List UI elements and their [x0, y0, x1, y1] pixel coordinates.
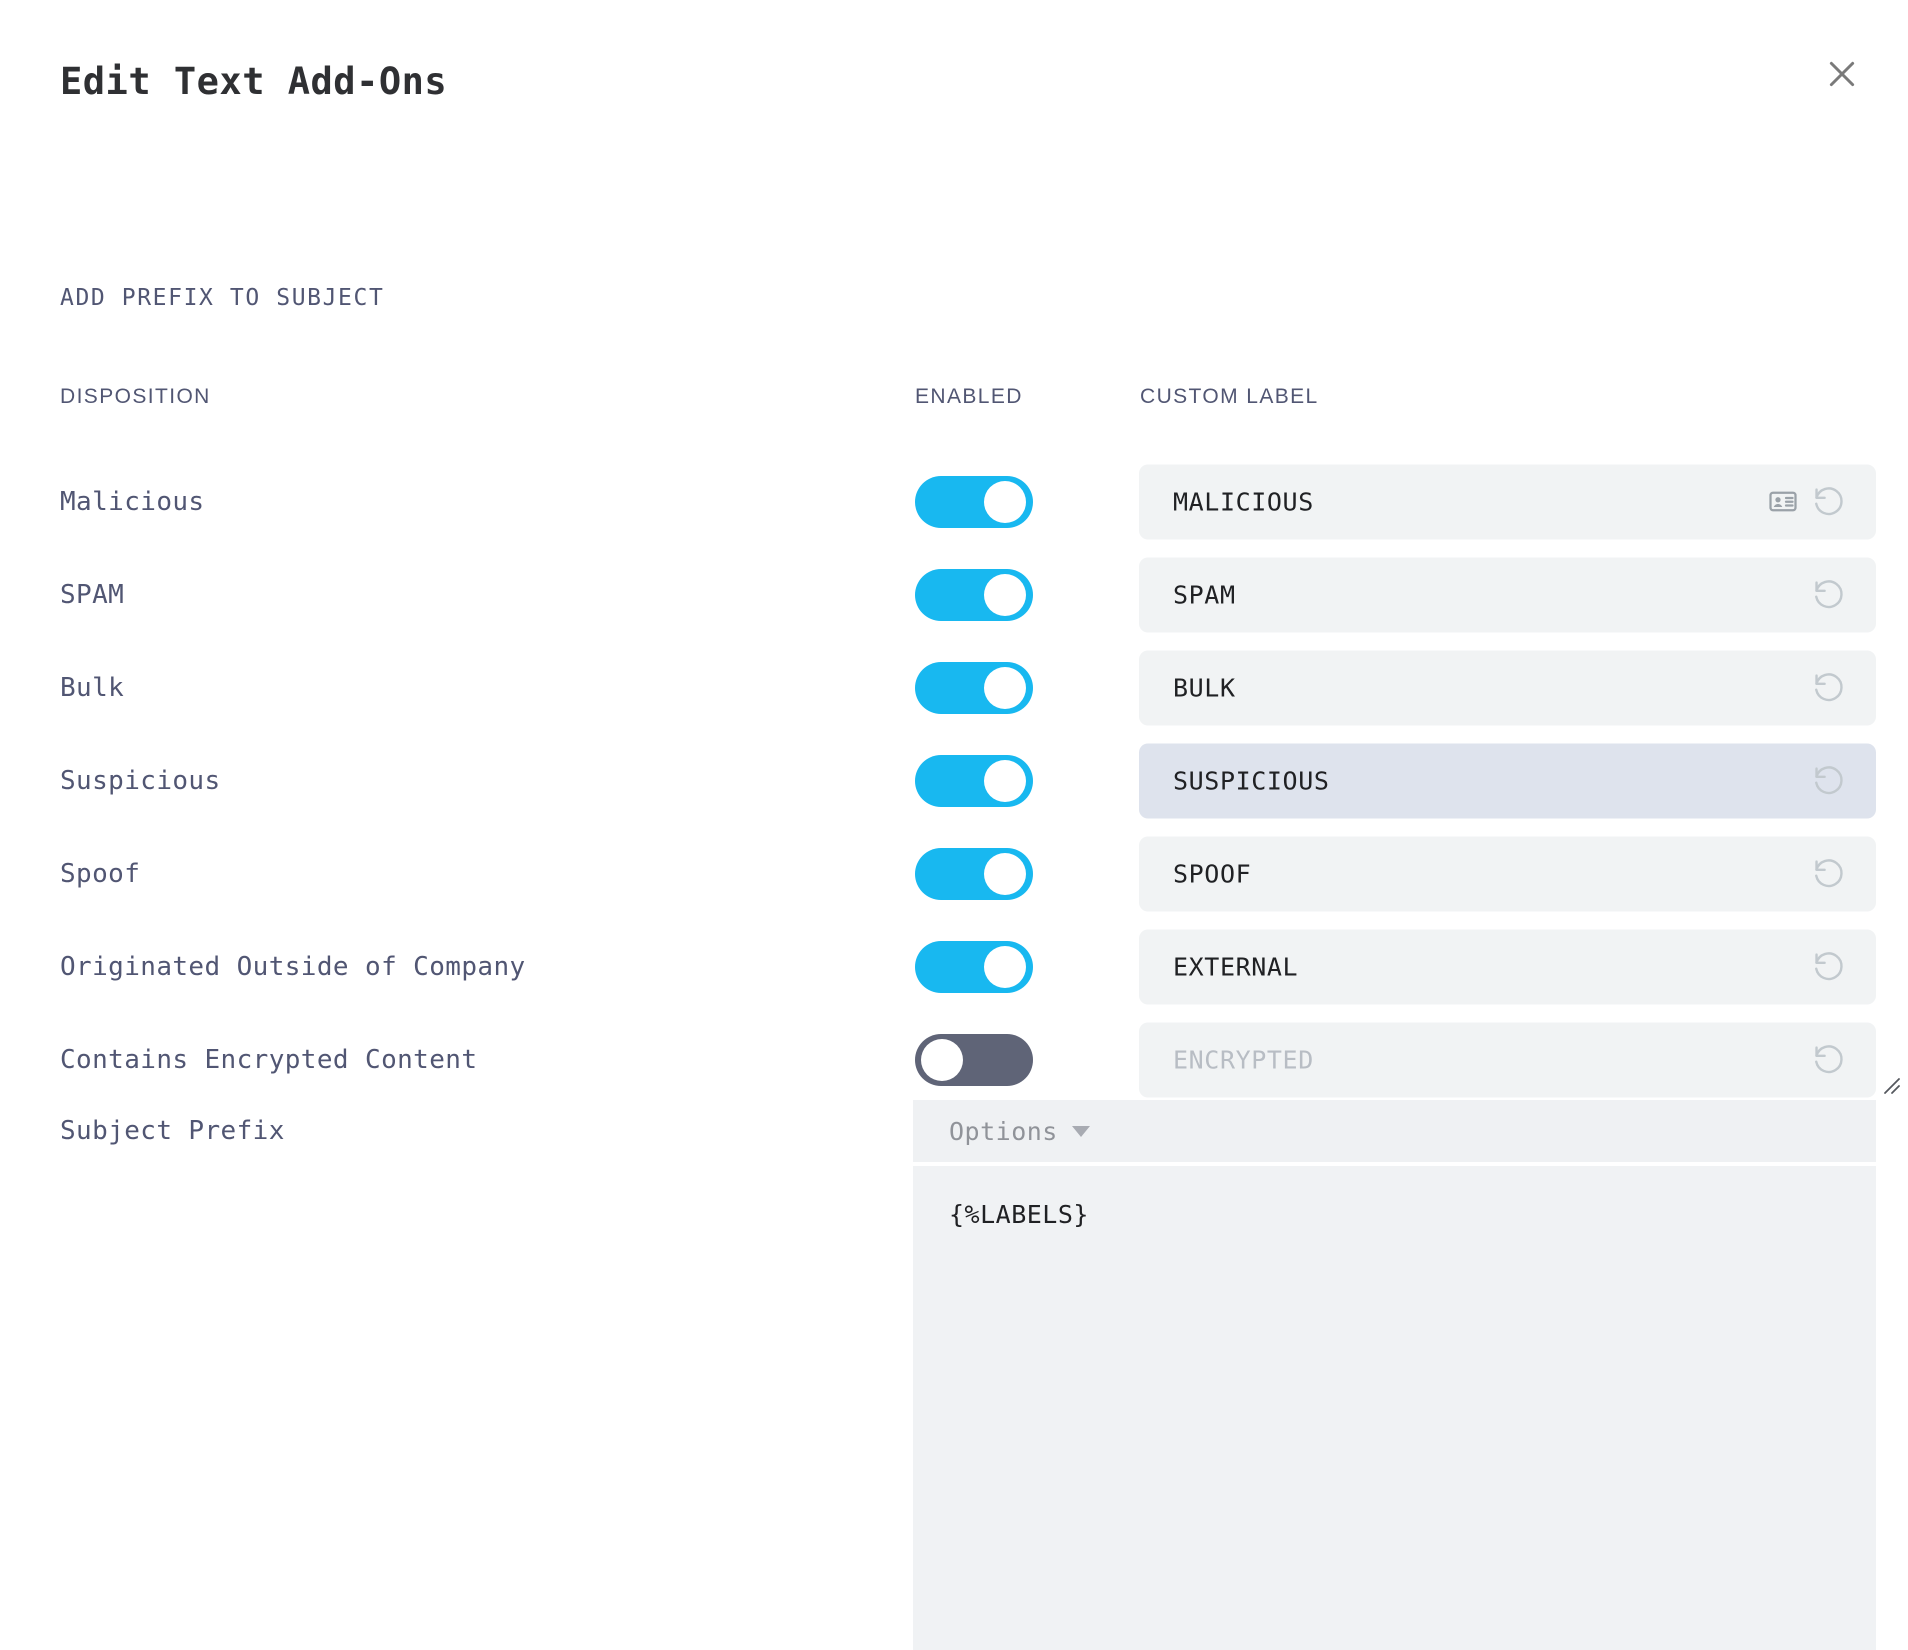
reset-icon[interactable] — [1812, 578, 1846, 612]
custom-label-field[interactable]: SPOOF — [1139, 836, 1876, 911]
reset-icon — [1812, 1043, 1846, 1077]
table-row: Originated Outside of CompanyEXTERNAL — [0, 920, 1908, 1013]
toggle-knob — [984, 481, 1026, 523]
table-row: Contains Encrypted ContentENCRYPTED — [0, 1013, 1908, 1106]
toggle-knob — [984, 667, 1026, 709]
contact-card-icon[interactable] — [1768, 487, 1798, 517]
table-row: BulkBULK — [0, 641, 1908, 734]
toggle-knob — [921, 1039, 963, 1081]
reset-icon[interactable] — [1812, 857, 1846, 891]
reset-icon[interactable] — [1812, 950, 1846, 984]
options-dropdown-label: Options — [913, 1117, 1058, 1146]
custom-label-value: SUSPICIOUS — [1139, 766, 1812, 795]
enabled-toggle[interactable] — [915, 662, 1033, 714]
disposition-label: Contains Encrypted Content — [60, 1045, 477, 1075]
chevron-down-icon — [1072, 1126, 1090, 1137]
enabled-toggle[interactable] — [915, 1034, 1033, 1086]
column-header-custom-label: CUSTOM LABEL — [1140, 385, 1319, 409]
field-icon-group — [1812, 1043, 1876, 1077]
disposition-label: Suspicious — [60, 766, 221, 796]
subject-prefix-textarea[interactable]: {%LABELS} — [913, 1166, 1876, 1650]
table-header-row: DISPOSITION ENABLED CUSTOM LABEL — [0, 385, 1908, 455]
reset-icon[interactable] — [1812, 764, 1846, 798]
table-row: SPAMSPAM — [0, 548, 1908, 641]
custom-label-field[interactable]: SUSPICIOUS — [1139, 743, 1876, 818]
field-icon-group — [1812, 857, 1876, 891]
section-heading: ADD PREFIX TO SUBJECT — [60, 285, 384, 311]
custom-label-value: SPAM — [1139, 580, 1812, 609]
toggle-knob — [984, 760, 1026, 802]
toggle-knob — [984, 946, 1026, 988]
field-icon-group — [1812, 671, 1876, 705]
close-button[interactable] — [1818, 50, 1866, 98]
resize-handle-icon[interactable] — [1876, 1070, 1902, 1096]
page-title: Edit Text Add-Ons — [60, 60, 447, 103]
options-dropdown[interactable]: Options — [913, 1100, 1876, 1162]
column-header-disposition: DISPOSITION — [60, 385, 211, 409]
disposition-label: Bulk — [60, 673, 124, 703]
custom-label-field[interactable]: MALICIOUS — [1139, 464, 1876, 539]
custom-label-field[interactable]: BULK — [1139, 650, 1876, 725]
enabled-toggle[interactable] — [915, 476, 1033, 528]
column-header-enabled: ENABLED — [915, 385, 1023, 409]
enabled-toggle[interactable] — [915, 569, 1033, 621]
field-icon-group — [1768, 485, 1876, 519]
toggle-knob — [984, 574, 1026, 616]
disposition-table: DISPOSITION ENABLED CUSTOM LABEL Malicio… — [0, 385, 1908, 1106]
enabled-toggle[interactable] — [915, 941, 1033, 993]
custom-label-field[interactable]: EXTERNAL — [1139, 929, 1876, 1004]
custom-label-value: BULK — [1139, 673, 1812, 702]
custom-label-value: MALICIOUS — [1139, 487, 1768, 516]
reset-icon[interactable] — [1812, 485, 1846, 519]
custom-label-value: EXTERNAL — [1139, 952, 1812, 981]
custom-label-value: ENCRYPTED — [1139, 1045, 1812, 1074]
edit-text-addons-dialog: Edit Text Add-Ons ADD PREFIX TO SUBJECT … — [0, 0, 1908, 1650]
custom-label-value: SPOOF — [1139, 859, 1812, 888]
reset-icon[interactable] — [1812, 671, 1846, 705]
table-row: SpoofSPOOF — [0, 827, 1908, 920]
field-icon-group — [1812, 764, 1876, 798]
disposition-label: Originated Outside of Company — [60, 952, 526, 982]
enabled-toggle[interactable] — [915, 755, 1033, 807]
disposition-label: Spoof — [60, 859, 140, 889]
table-row: SuspiciousSUSPICIOUS — [0, 734, 1908, 827]
custom-label-field: ENCRYPTED — [1139, 1022, 1876, 1097]
table-row: MaliciousMALICIOUS — [0, 455, 1908, 548]
dialog-header: Edit Text Add-Ons — [0, 0, 1908, 150]
field-icon-group — [1812, 578, 1876, 612]
field-icon-group — [1812, 950, 1876, 984]
disposition-label: Malicious — [60, 487, 204, 517]
disposition-label: SPAM — [60, 580, 124, 610]
toggle-knob — [984, 853, 1026, 895]
subject-prefix-label: Subject Prefix — [60, 1116, 285, 1146]
enabled-toggle[interactable] — [915, 848, 1033, 900]
custom-label-field[interactable]: SPAM — [1139, 557, 1876, 632]
close-icon — [1825, 57, 1859, 91]
